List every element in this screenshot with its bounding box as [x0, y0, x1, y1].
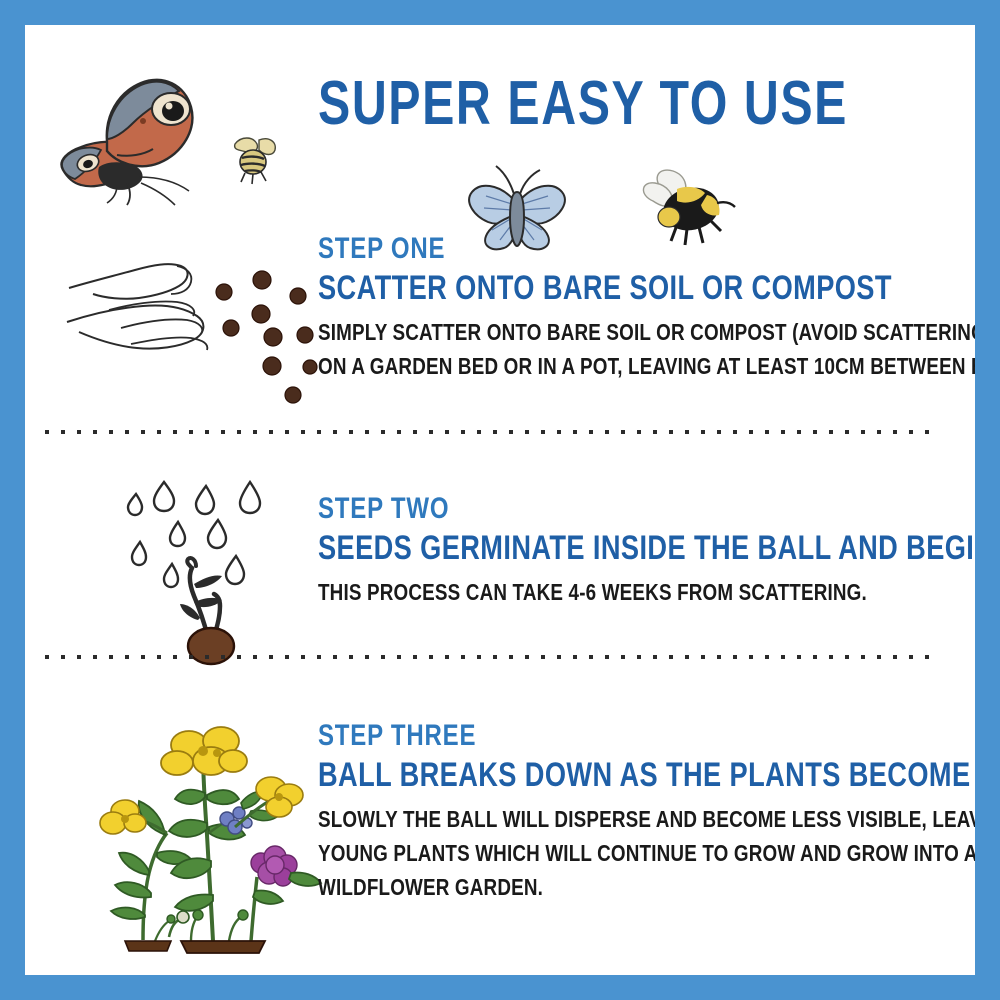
step-one-heading: SCATTER ONTO BARE SOIL OR COMPOST — [318, 269, 846, 307]
step-two-text-block: STEP TWO SEEDS GERMINATE INSIDE THE BALL… — [318, 493, 975, 609]
step-one-body-line-2: ON A GARDEN BED OR IN A POT, LEAVING AT … — [318, 349, 859, 383]
small-bee-illustration — [225, 130, 285, 190]
step-three-body-line-1: SLOWLY THE BALL WILL DISPERSE AND BECOME… — [318, 802, 859, 836]
step-two-body: THIS PROCESS CAN TAKE 4-6 WEEKS FROM SCA… — [318, 575, 859, 609]
step-one-text-block: STEP ONE SCATTER ONTO BARE SOIL OR COMPO… — [318, 233, 975, 383]
poster-canvas: SUPER EASY TO USE — [25, 25, 975, 975]
wildflower-plants-illustration — [85, 715, 335, 955]
poster-page: SUPER EASY TO USE — [0, 0, 1000, 1000]
step-three-text-block: STEP THREE BALL BREAKS DOWN AS THE PLANT… — [318, 720, 975, 904]
step-three-heading: BALL BREAKS DOWN AS THE PLANTS BECOME ES… — [318, 756, 846, 794]
step-two-label: STEP TWO — [318, 493, 846, 525]
section-divider-2 — [45, 655, 935, 659]
hand-scattering-seed-balls-illustration — [65, 240, 315, 415]
rain-drops-and-sprouting-seed-ball-illustration — [110, 460, 310, 660]
page-title: SUPER EASY TO USE — [318, 73, 848, 135]
peacock-butterfly-illustration — [55, 65, 215, 205]
step-three-body-line-2: YOUNG PLANTS WHICH WILL CONTINUE TO GROW… — [318, 836, 859, 870]
step-two-body-line-1: THIS PROCESS CAN TAKE 4-6 WEEKS FROM SCA… — [318, 575, 859, 609]
section-divider-1 — [45, 430, 935, 434]
step-one-body-line-1: SIMPLY SCATTER ONTO BARE SOIL OR COMPOST… — [318, 315, 859, 349]
step-one-body: SIMPLY SCATTER ONTO BARE SOIL OR COMPOST… — [318, 315, 859, 383]
step-three-body: SLOWLY THE BALL WILL DISPERSE AND BECOME… — [318, 802, 859, 904]
step-one-label: STEP ONE — [318, 233, 846, 265]
step-two-heading: SEEDS GERMINATE INSIDE THE BALL AND BEGI… — [318, 529, 846, 567]
step-three-body-line-3: WILDFLOWER GARDEN. — [318, 870, 859, 904]
step-three-label: STEP THREE — [318, 720, 846, 752]
